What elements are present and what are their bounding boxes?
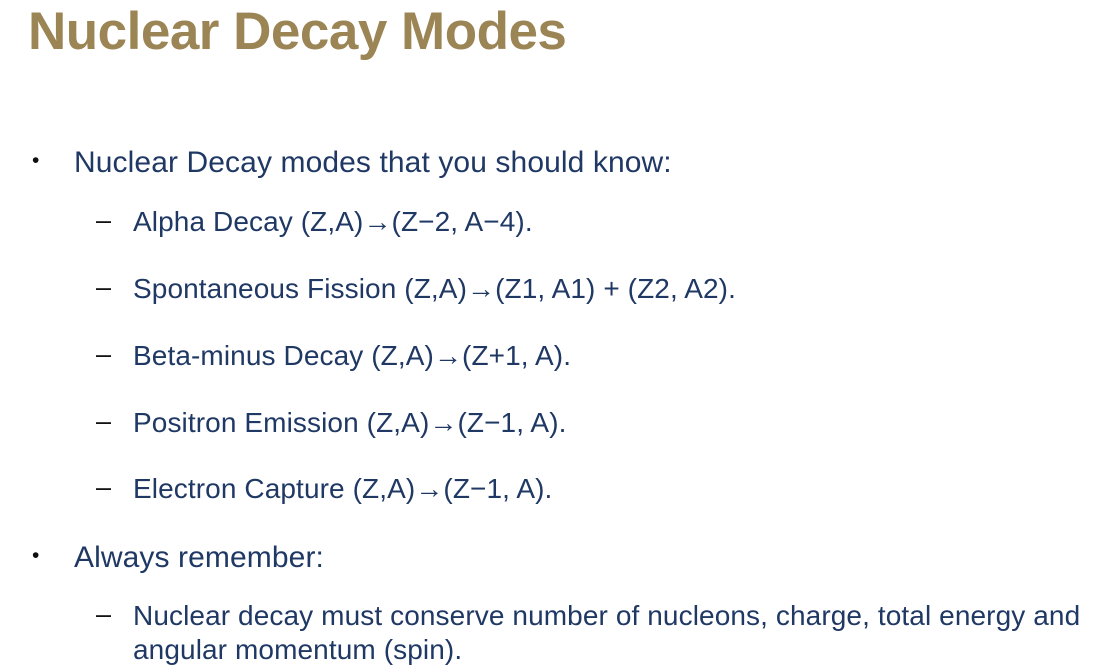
bullet-text: Nuclear Decay modes that you should know… bbox=[74, 146, 672, 180]
bullet-dash-icon: – bbox=[96, 272, 118, 302]
bullet-dash-icon: – bbox=[96, 406, 118, 436]
bullet-dot-icon: • bbox=[32, 146, 45, 176]
bullet-text: Spontaneous Fission (Z,A)→(Z1, A1) + (Z2… bbox=[133, 272, 736, 306]
bullet-text: Alpha Decay (Z,A)→(Z−2, A−4). bbox=[133, 205, 533, 239]
bullet-dot-icon: • bbox=[32, 541, 45, 571]
bullet-dash-icon: – bbox=[96, 339, 118, 369]
bullet-text: Nuclear decay must conserve number of nu… bbox=[133, 599, 1098, 667]
bullet-text: Electron Capture (Z,A)→(Z−1, A). bbox=[133, 472, 552, 506]
bullet-dash-icon: – bbox=[96, 205, 118, 235]
bullet-text: Beta-minus Decay (Z,A)→(Z+1, A). bbox=[133, 339, 571, 373]
bullet-text: Always remember: bbox=[74, 541, 324, 575]
page-title: Nuclear Decay Modes bbox=[28, 2, 566, 61]
bullet-dash-icon: – bbox=[96, 599, 118, 629]
slide-canvas: Nuclear Decay Modes •Nuclear Decay modes… bbox=[0, 0, 1118, 663]
bullet-dash-icon: – bbox=[96, 472, 118, 502]
bullet-text: Positron Emission (Z,A)→(Z−1, A). bbox=[133, 406, 567, 440]
